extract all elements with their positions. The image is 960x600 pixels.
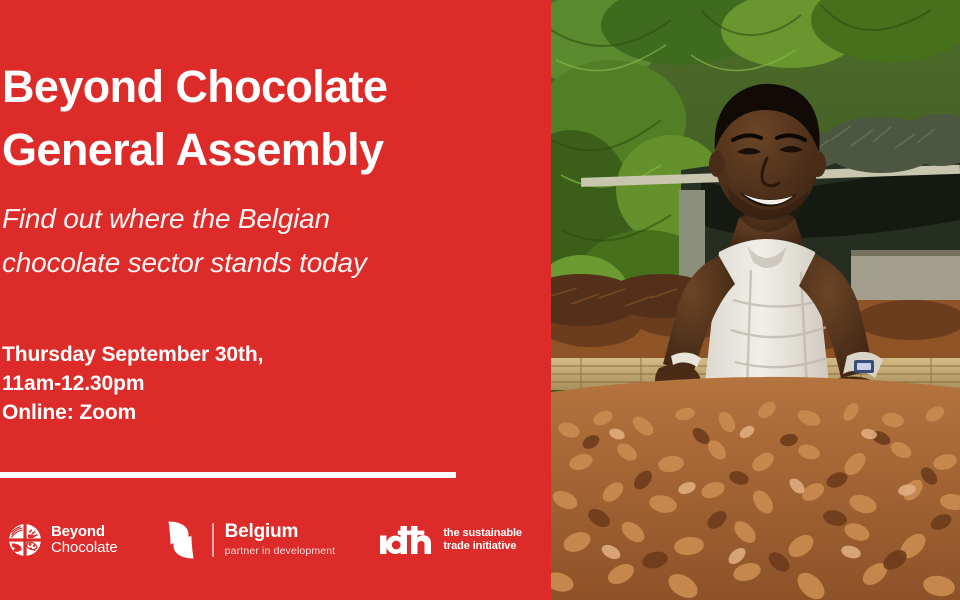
beyond-chocolate-word-bottom: Chocolate — [51, 540, 118, 556]
idh-tagline-line-1: the sustainable — [443, 527, 522, 540]
logo-beyond-chocolate: Beyond Chocolate — [8, 512, 118, 568]
logo-idh: the sustainable trade initiative — [380, 512, 522, 568]
title-line-2: General Assembly — [2, 118, 547, 181]
belgium-word-top: Belgium — [225, 522, 336, 543]
page-title: Beyond Chocolate General Assembly — [2, 55, 547, 181]
event-location: Online: Zoom — [2, 398, 547, 427]
poster: Beyond Chocolate General Assembly Find o… — [0, 0, 960, 600]
idh-tagline-line-2: trade initiative — [443, 540, 522, 553]
subtitle-line-2: chocolate sector stands today — [2, 241, 547, 285]
event-date: Thursday September 30th, — [2, 340, 547, 369]
title-line-1: Beyond Chocolate — [2, 55, 547, 118]
subtitle-line-1: Find out where the Belgian — [2, 197, 547, 241]
belgium-logo-divider — [212, 523, 214, 557]
belgium-wordmark: Belgium partner in development — [225, 522, 336, 557]
logo-bar: Beyond Chocolate Belgium — [0, 512, 522, 568]
subtitle: Find out where the Belgian chocolate sec… — [2, 197, 547, 285]
event-details: Thursday September 30th, 11am-12.30pm On… — [2, 340, 547, 427]
logo-belgium: Belgium partner in development — [161, 512, 336, 568]
cocoa-farmer-photo — [551, 0, 960, 600]
idh-tagline: the sustainable trade initiative — [443, 527, 522, 553]
left-red-panel: Beyond Chocolate General Assembly Find o… — [0, 0, 551, 600]
idh-wordmark-icon — [380, 526, 433, 554]
white-divider-rule — [0, 472, 456, 478]
event-time: 11am-12.30pm — [2, 369, 547, 398]
beyond-chocolate-wordmark: Beyond Chocolate — [51, 524, 118, 556]
belgium-leaf-b-icon — [161, 519, 201, 561]
beyond-chocolate-word-top: Beyond — [51, 524, 118, 540]
belgium-word-bottom: partner in development — [225, 546, 336, 558]
beyond-chocolate-emblem-icon — [8, 523, 42, 557]
